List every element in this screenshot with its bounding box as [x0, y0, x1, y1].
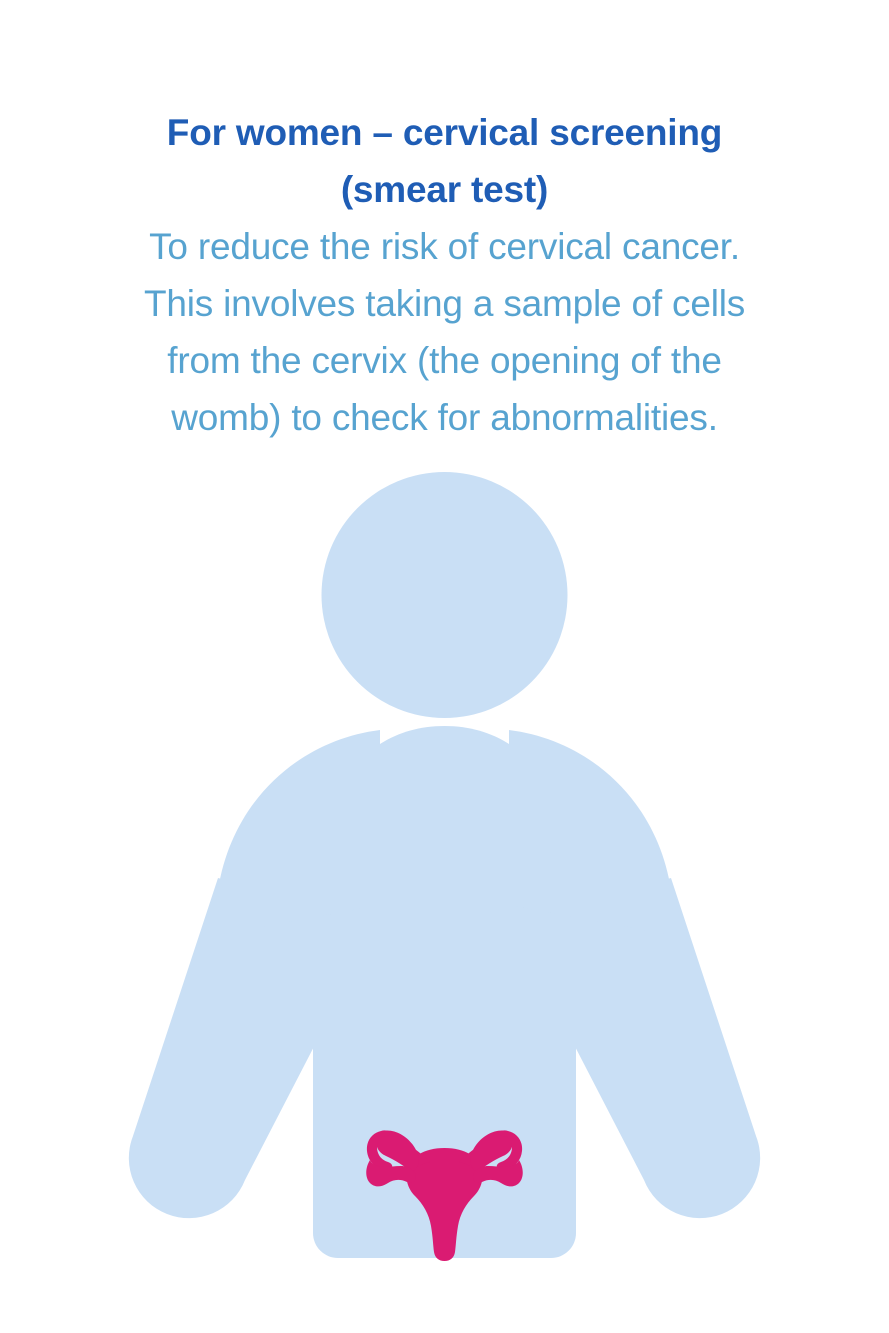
figure-left-arm: [129, 878, 320, 1218]
figure-torso: [313, 726, 576, 1258]
figure-head: [322, 472, 568, 718]
uterus-right-loop: [470, 1130, 512, 1172]
figure-left-shoulder: [218, 730, 380, 935]
poster-canvas: For women – cervical screening (smear te…: [0, 0, 889, 1333]
uterus-left-tube-outer: [367, 1130, 392, 1171]
description-text: To reduce the risk of cervical cancer. T…: [32, 218, 857, 446]
figure-right-arm: [569, 878, 760, 1218]
uterus-left-loop: [376, 1130, 418, 1172]
uterus-left-tube-curve: [369, 1136, 398, 1166]
page-title-line-2: (smear test): [32, 161, 857, 218]
text-block: For women – cervical screening (smear te…: [0, 104, 889, 446]
uterus-right-tube-inner: [459, 1138, 509, 1171]
description-line-1: To reduce the risk of cervical cancer.: [32, 218, 857, 275]
description-line-3: from the cervix (the opening of the: [32, 332, 857, 389]
uterus-body: [406, 1148, 482, 1261]
uterus-left-tube-top: [383, 1133, 404, 1155]
uterus-right-ovary: [473, 1160, 523, 1186]
page-title-line-1: For women – cervical screening: [32, 104, 857, 161]
uterus-right-tube-outer: [497, 1130, 522, 1171]
figure-right-shoulder: [509, 730, 671, 935]
description-line-2: This involves taking a sample of cells: [32, 275, 857, 332]
page-title: For women – cervical screening (smear te…: [32, 104, 857, 218]
uterus-left-ovary: [366, 1160, 416, 1186]
uterus-left-tube-inner: [380, 1138, 430, 1171]
description-line-4: womb) to check for abnormalities.: [32, 389, 857, 446]
uterus-icon: [366, 1130, 523, 1261]
